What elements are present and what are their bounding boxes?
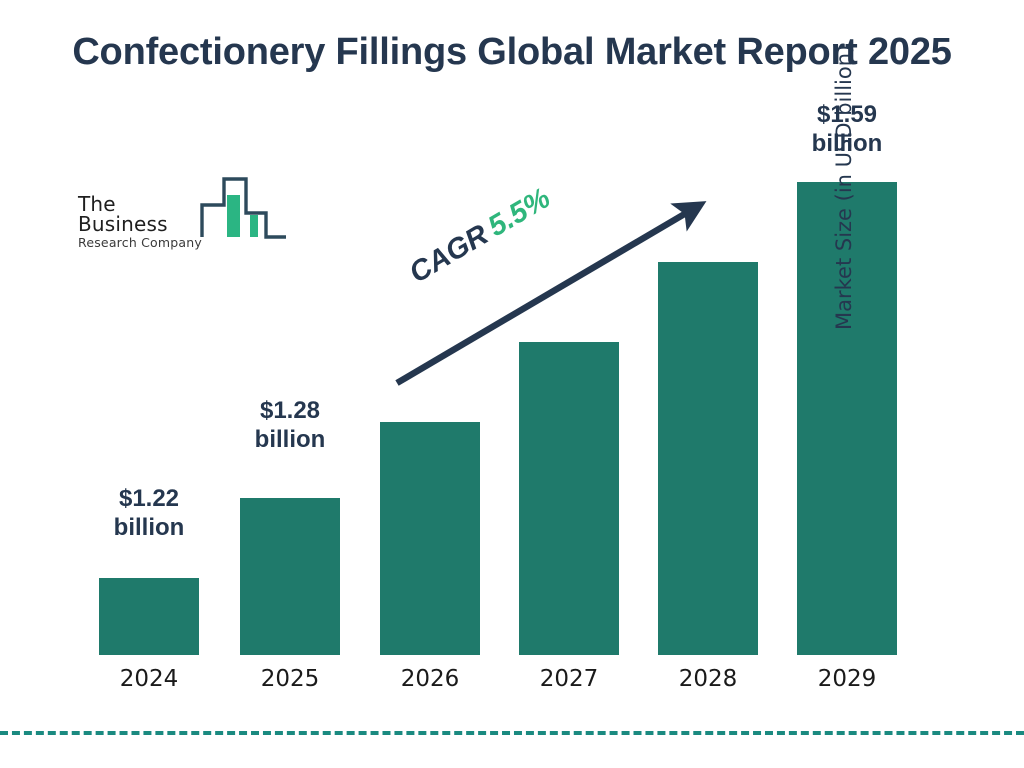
bar-2027[interactable] [519,342,619,655]
xtick-2026: 2026 [360,666,500,692]
cagr-value: 5.5% [483,182,556,243]
cagr-annotation: CAGR5.5% [404,182,556,290]
y-axis-title: Market Size (in USD billion) [832,10,856,330]
xtick-2027: 2027 [499,666,639,692]
bar-2028[interactable] [658,262,758,655]
bar-value-unit-2025: billion [220,425,360,454]
chart-canvas: Confectionery Fillings Global Market Rep… [0,0,1024,768]
cagr-label: CAGR [404,219,494,290]
xtick-2024: 2024 [79,666,219,692]
bar-value-unit-2024: billion [79,513,219,542]
bar-value-label-2025: $1.28 billion [220,396,360,455]
footer-divider [0,731,1024,735]
bar-2026[interactable] [380,422,480,655]
bar-value-amount-2025: $1.28 [220,396,360,425]
bar-2024[interactable] [99,578,199,655]
xtick-2025: 2025 [220,666,360,692]
bar-2025[interactable] [240,498,340,655]
xtick-2028: 2028 [638,666,778,692]
xtick-2029: 2029 [777,666,917,692]
bar-value-amount-2024: $1.22 [79,484,219,513]
bar-value-label-2024: $1.22 billion [79,484,219,543]
bar-chart-plot: $1.22 billion $1.28 billion $1.59 billio… [0,0,1024,768]
